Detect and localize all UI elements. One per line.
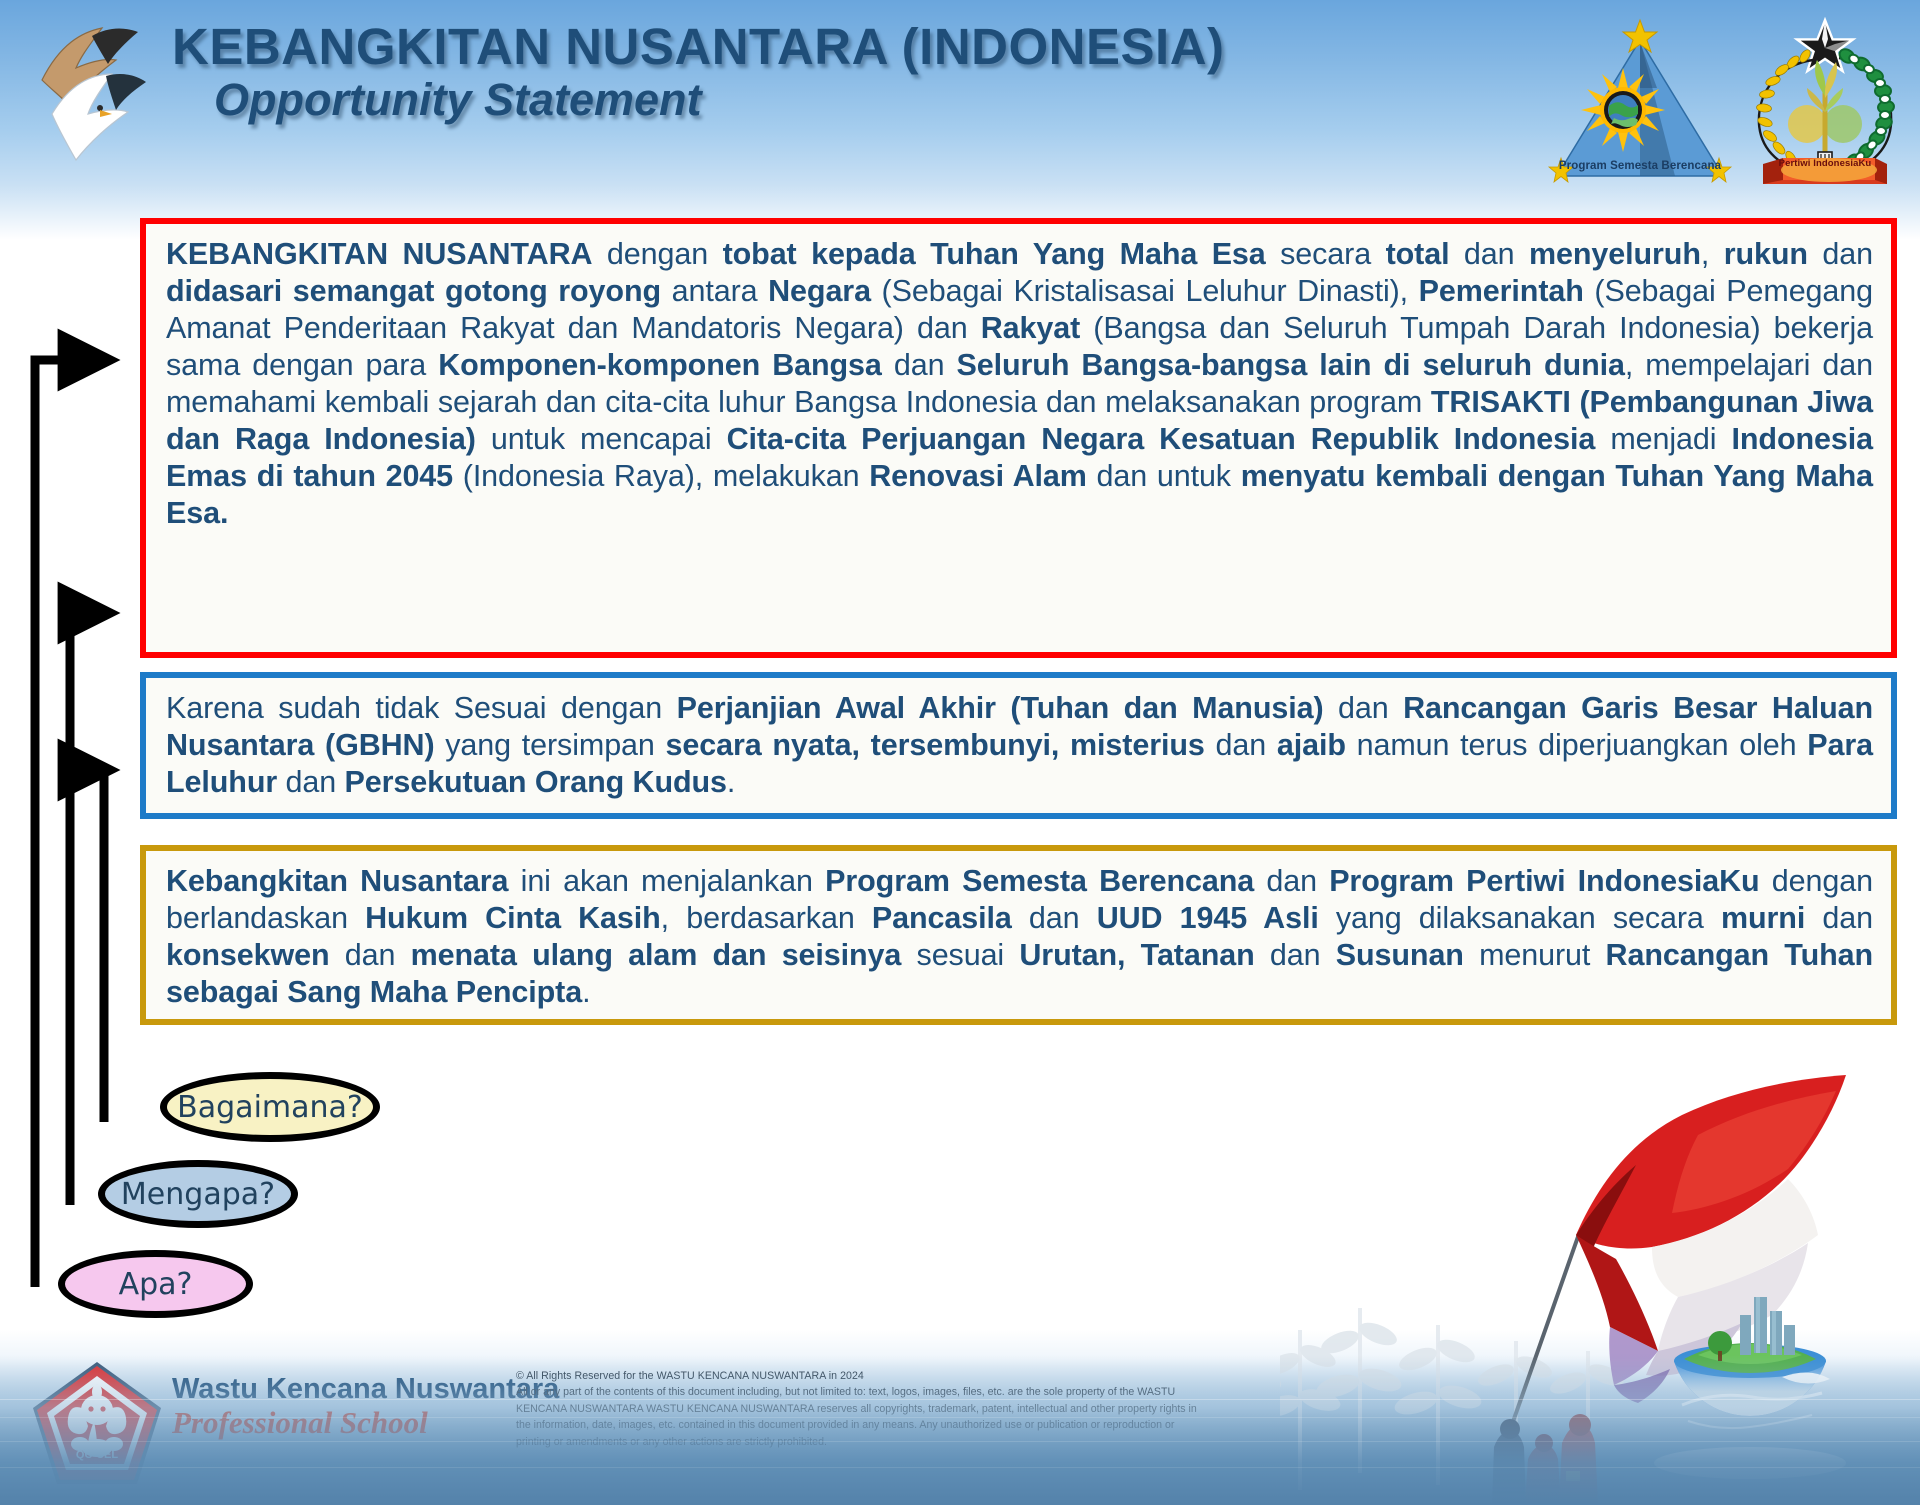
title-block: KEBANGKITAN NUSANTARA (INDONESIA) Opport… xyxy=(172,20,1225,124)
statement-paragraph: Karena sudah tidak Sesuai dengan Perjanj… xyxy=(166,690,1873,801)
question-label: Mengapa? xyxy=(121,1177,275,1212)
footer-brand-line2: Professional School xyxy=(172,1406,559,1440)
statement-paragraph: Kebangkitan Nusantara ini akan menjalank… xyxy=(166,863,1873,1011)
logo-right-caption: Pertiwi IndonesiaKu xyxy=(1740,158,1910,169)
arrow-to-blue-box xyxy=(70,613,108,1205)
arrow-to-gold-box xyxy=(104,770,108,1122)
logo-left-caption: Program Semesta Berencana xyxy=(1540,160,1740,172)
logo-qc-cel-text: QC-CEL xyxy=(76,1449,118,1461)
question-label: Bagaimana? xyxy=(177,1090,363,1125)
copyright-notice: © All Rights Reserved for the WASTU KENC… xyxy=(516,1368,1206,1450)
copyright-line1: © All Rights Reserved for the WASTU KENC… xyxy=(516,1368,1206,1384)
flag-and-globe-artwork xyxy=(1280,1035,1920,1505)
question-bubble-mengapa[interactable]: Mengapa? xyxy=(98,1160,298,1228)
question-bubble-bagaimana[interactable]: Bagaimana? xyxy=(160,1072,380,1142)
question-label: Apa? xyxy=(119,1267,193,1302)
statement-box-why: Karena sudah tidak Sesuai dengan Perjanj… xyxy=(140,672,1897,819)
statement-paragraph: KEBANGKITAN NUSANTARA dengan tobat kepad… xyxy=(166,236,1873,532)
footer-brand-line1: Wastu Kencana Nuswantara xyxy=(172,1374,559,1404)
header: KEBANGKITAN NUSANTARA (INDONESIA) Opport… xyxy=(0,0,1920,215)
sprout-decoration-icon xyxy=(1280,1308,1627,1491)
page-subtitle: Opportunity Statement xyxy=(214,76,1225,124)
seagull-icon xyxy=(30,18,170,178)
wastu-kencana-pentagon-logo-icon: QC-CEL xyxy=(30,1358,165,1498)
statement-box-what: KEBANGKITAN NUSANTARA dengan tobat kepad… xyxy=(140,218,1897,658)
slide-canvas: KEBANGKITAN NUSANTARA (INDONESIA) Opport… xyxy=(0,0,1920,1505)
copyright-body: All or any part of the contents of this … xyxy=(516,1384,1206,1450)
footer-brand: Wastu Kencana Nuswantara Professional Sc… xyxy=(172,1374,559,1441)
statement-box-how: Kebangkitan Nusantara ini akan menjalank… xyxy=(140,845,1897,1025)
question-bubble-apa[interactable]: Apa? xyxy=(58,1250,253,1318)
arrow-to-red-box xyxy=(35,360,108,1287)
flag-pole xyxy=(1502,1231,1580,1453)
page-title: KEBANGKITAN NUSANTARA (INDONESIA) xyxy=(172,20,1225,74)
people-silhouette-icon xyxy=(1492,1414,1598,1503)
indonesia-flag-icon xyxy=(1576,1075,1846,1403)
globe-city-icon xyxy=(1654,1297,1846,1479)
